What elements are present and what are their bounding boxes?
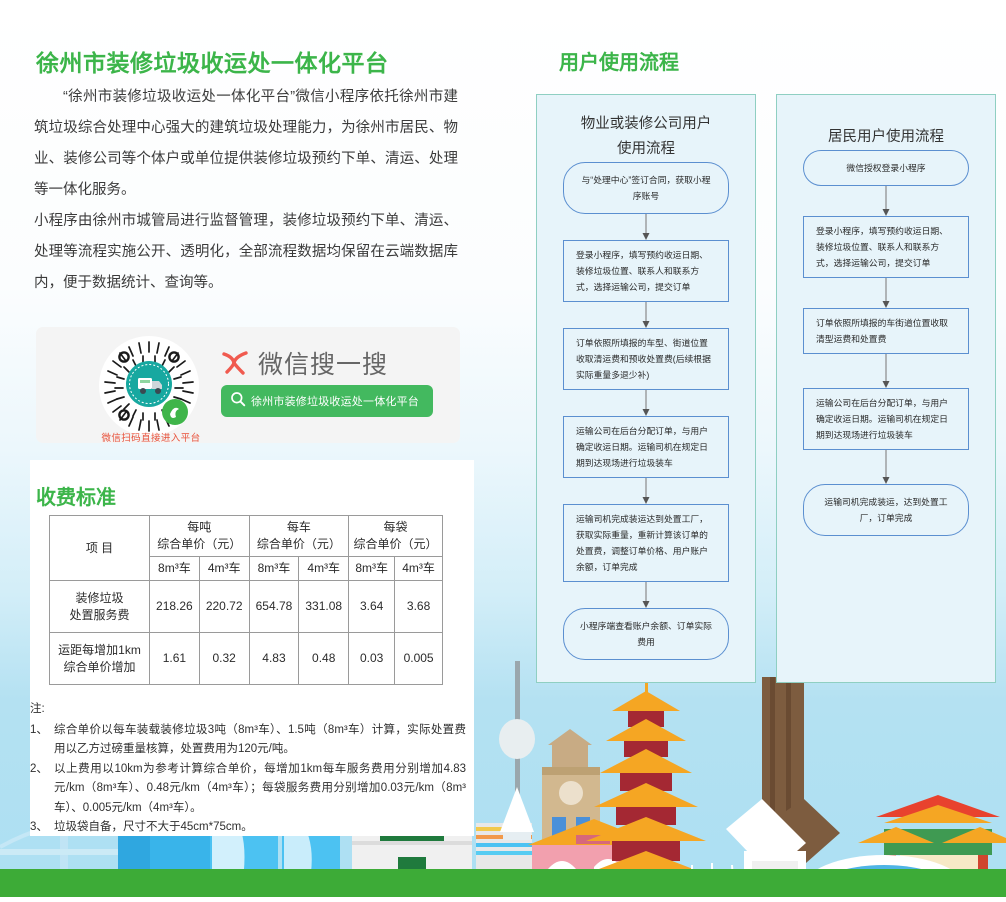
- qr-caption: 微信扫码直接进入平台: [66, 430, 236, 444]
- group-price: 综合单价（元）: [252, 536, 347, 553]
- table-row: 装修垃圾 处置服务费 218.26 220.72 654.78 331.08 3…: [50, 581, 443, 633]
- flow-section-title: 用户使用流程: [559, 46, 679, 75]
- subcol-2: 8m³车: [249, 557, 299, 581]
- flow-arrow: [537, 582, 755, 608]
- flow-node-4: 运输公司在后台分配订单，与用户确定收运日期。运输司机在规定日期到达现场进行垃圾装…: [563, 416, 729, 478]
- qr-code-image[interactable]: [99, 336, 199, 436]
- intro-paragraph-1: “徐州市装修垃圾收运处一体化平台”微信小程序依托徐州市建筑垃圾综合处理中心强大的…: [34, 82, 458, 206]
- fee-table: 项 目 每吨 综合单价（元） 每车 综合单价（元） 每袋 综合单价（元） 8m³…: [49, 515, 443, 685]
- flow-node-1: 微信授权登录小程序: [803, 150, 969, 186]
- cell: 0.48: [299, 633, 349, 685]
- note-text: 综合单价以每车装载装修垃圾3吨（8m³车）、1.5吨（8m³车）计算，实际处置费…: [54, 721, 466, 760]
- flow-panel-company: 物业或装修公司用户 使用流程 与“处理中心”签订合同，获取小程序账号登录小程序，…: [536, 94, 756, 683]
- row-label-line1: 运距每增加1km: [52, 642, 147, 659]
- cell: 0.32: [199, 633, 249, 685]
- cell: 1.61: [150, 633, 200, 685]
- row-label: 装修垃圾 处置服务费: [50, 581, 150, 633]
- flow-panel-heading: 物业或装修公司用户 使用流程: [537, 112, 755, 162]
- search-keyword: 徐州市装修垃圾收运处一体化平台: [251, 393, 419, 409]
- subcol-4: 8m³车: [349, 557, 395, 581]
- header-group-per-ton: 每吨 综合单价（元）: [150, 516, 250, 557]
- flow-arrow: [537, 302, 755, 328]
- row-label-line2: 综合单价增加: [52, 659, 147, 676]
- heading-line1: 居民用户使用流程: [777, 125, 995, 150]
- cell: 654.78: [249, 581, 299, 633]
- cell: 220.72: [199, 581, 249, 633]
- flow-arrow: [777, 354, 995, 388]
- flow-arrow: [537, 390, 755, 416]
- group-unit: 每袋: [351, 519, 440, 536]
- subcol-0: 8m³车: [150, 557, 200, 581]
- flow-arrow: [777, 186, 995, 216]
- note-number: 3、: [30, 818, 54, 838]
- flow-node-3: 订单依照所填报的车型、街道位置收取清运费和预收处置费(后续根据实际重量多退少补): [563, 328, 729, 390]
- fee-notes: 注: 1、 综合单价以每车装载装修垃圾3吨（8m³车）、1.5吨（8m³车）计算…: [30, 700, 466, 838]
- note-text: 以上费用以10km为参考计算综合单价，每增加1km每车服务费用分别增加4.83元…: [54, 760, 466, 819]
- note-item: 3、 垃圾袋自备，尺寸不大于45cm*75cm。: [30, 818, 466, 838]
- flow-panel-resident: 居民用户使用流程 微信授权登录小程序登录小程序，填写预约收运日期、装修垃圾位置、…: [776, 94, 996, 683]
- heading-line2: 使用流程: [537, 137, 755, 162]
- cell: 331.08: [299, 581, 349, 633]
- heading-line1: 物业或装修公司用户: [537, 112, 755, 137]
- header-group-per-bag: 每袋 综合单价（元）: [349, 516, 443, 557]
- wechat-search-brand: 微信搜一搜: [221, 345, 388, 381]
- subcol-5: 4m³车: [395, 557, 443, 581]
- table-row: 运距每增加1km 综合单价增加 1.61 0.32 4.83 0.48 0.03…: [50, 633, 443, 685]
- wechat-search-logo-icon: [221, 350, 249, 376]
- flow-arrow: [537, 478, 755, 504]
- row-label-line2: 处置服务费: [52, 607, 147, 624]
- group-unit: 每车: [252, 519, 347, 536]
- header-group-per-car: 每车 综合单价（元）: [249, 516, 349, 557]
- header-item: 项 目: [50, 516, 150, 581]
- wechat-search-label: 微信搜一搜: [258, 345, 388, 381]
- search-icon: [230, 391, 246, 412]
- fee-section-title: 收费标准: [36, 481, 116, 510]
- wechat-entry-card: 微信扫码直接进入平台 微信搜一搜 徐州市装修垃圾收运处一体化平台: [36, 327, 460, 443]
- group-price: 综合单价（元）: [351, 536, 440, 553]
- note-number: 2、: [30, 760, 54, 819]
- note-item: 2、 以上费用以10km为参考计算综合单价，每增加1km每车服务费用分别增加4.…: [30, 760, 466, 819]
- cell: 218.26: [150, 581, 200, 633]
- flow-arrow: [537, 214, 755, 240]
- flow-node-5: 运输司机完成装运，达到处置工厂，订单完成: [803, 484, 969, 536]
- flow-node-5: 运输司机完成装运达到处置工厂，获取实际重量，重新计算该订单的处置费，调整订单价格…: [563, 504, 729, 582]
- wechat-search-button[interactable]: 徐州市装修垃圾收运处一体化平台: [221, 385, 433, 417]
- flow-node-6: 小程序端查看账户余额、订单实际费用: [563, 608, 729, 660]
- note-number: 1、: [30, 721, 54, 760]
- page-title: 徐州市装修垃圾收运处一体化平台: [36, 44, 389, 78]
- group-price: 综合单价（元）: [152, 536, 247, 553]
- subcol-1: 4m³车: [199, 557, 249, 581]
- intro-paragraph-2: 小程序由徐州市城管局进行监督管理，装修垃圾预约下单、清运、处理等流程实施公开、透…: [34, 206, 458, 299]
- flow-node-list: 与“处理中心”签订合同，获取小程序账号登录小程序，填写预约收运日期、装修垃圾位置…: [537, 162, 755, 660]
- group-unit: 每吨: [152, 519, 247, 536]
- cell: 3.64: [349, 581, 395, 633]
- flow-node-2: 登录小程序，填写预约收运日期、装修垃圾位置、联系人和联系方式，选择运输公司，提交…: [803, 216, 969, 278]
- bottom-green-bar: [0, 869, 1006, 897]
- row-label-line1: 装修垃圾: [52, 590, 147, 607]
- table-header-row-1: 项 目 每吨 综合单价（元） 每车 综合单价（元） 每袋 综合单价（元）: [50, 516, 443, 557]
- row-label: 运距每增加1km 综合单价增加: [50, 633, 150, 685]
- flow-arrow: [777, 450, 995, 484]
- note-item: 1、 综合单价以每车装载装修垃圾3吨（8m³车）、1.5吨（8m³车）计算，实际…: [30, 721, 466, 760]
- cell: 0.03: [349, 633, 395, 685]
- note-text: 垃圾袋自备，尺寸不大于45cm*75cm。: [54, 818, 466, 838]
- flow-arrow: [777, 278, 995, 308]
- cell: 3.68: [395, 581, 443, 633]
- flow-panel-heading: 居民用户使用流程: [777, 125, 995, 150]
- cell: 4.83: [249, 633, 299, 685]
- flow-node-list: 微信授权登录小程序登录小程序，填写预约收运日期、装修垃圾位置、联系人和联系方式，…: [777, 150, 995, 536]
- flow-node-1: 与“处理中心”签订合同，获取小程序账号: [563, 162, 729, 214]
- cell: 0.005: [395, 633, 443, 685]
- notes-heading: 注:: [30, 700, 466, 720]
- flow-node-4: 运输公司在后台分配订单，与用户确定收运日期。运输司机在规定日期到达现场进行垃圾装…: [803, 388, 969, 450]
- flow-node-3: 订单依照所填报的车街道位置收取清型运费和处置费: [803, 308, 969, 354]
- subcol-3: 4m³车: [299, 557, 349, 581]
- flow-node-2: 登录小程序，填写预约收运日期、装修垃圾位置、联系人和联系方式，选择运输公司，提交…: [563, 240, 729, 302]
